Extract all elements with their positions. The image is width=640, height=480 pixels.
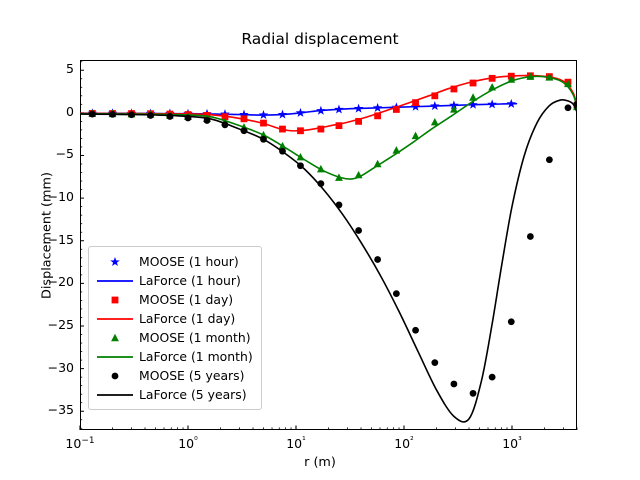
- legend-square-icon: [95, 292, 135, 308]
- legend-line-icon: [95, 311, 135, 327]
- legend-item[interactable]: LaForce (5 years): [95, 385, 253, 404]
- figure: Radial displacement Displacement (mm) r …: [0, 0, 640, 480]
- legend-item-label: MOOSE (1 hour): [135, 254, 239, 269]
- legend-line-icon: [95, 387, 135, 403]
- legend-line-icon: [95, 273, 135, 289]
- legend-item[interactable]: LaForce (1 hour): [95, 271, 253, 290]
- x-tick-label: 10³: [482, 436, 542, 451]
- series-line-laforce-1-month: [80, 76, 577, 179]
- y-tick-label: −25: [28, 317, 74, 332]
- legend-item-label: LaForce (1 hour): [135, 273, 241, 288]
- legend-item-label: MOOSE (5 years): [135, 368, 244, 383]
- legend-item[interactable]: MOOSE (1 month): [95, 328, 253, 347]
- legend-item-label: LaForce (5 years): [135, 387, 247, 402]
- y-tick-label: −35: [28, 402, 74, 417]
- x-axis-label: r (m): [0, 455, 640, 470]
- series-markers-moose-1-month: [88, 72, 580, 180]
- legend-item[interactable]: MOOSE (5 years): [95, 366, 253, 385]
- y-tick-label: −10: [28, 189, 74, 204]
- legend-triangle-icon: [95, 330, 135, 346]
- legend-item[interactable]: MOOSE (1 hour): [95, 252, 253, 271]
- legend-item[interactable]: LaForce (1 day): [95, 309, 253, 328]
- x-tick-label: 10¹: [266, 436, 326, 451]
- legend: MOOSE (1 hour)LaForce (1 hour)MOOSE (1 d…: [88, 246, 262, 410]
- legend-circle-icon: [95, 368, 135, 384]
- legend-item-label: LaForce (1 day): [135, 311, 235, 326]
- y-tick-label: −20: [28, 274, 74, 289]
- legend-item-label: LaForce (1 month): [135, 349, 253, 364]
- legend-star-icon: [95, 254, 135, 270]
- y-tick-label: 0: [28, 104, 74, 119]
- legend-item-label: MOOSE (1 month): [135, 330, 251, 345]
- y-tick-label: −15: [28, 232, 74, 247]
- legend-item[interactable]: MOOSE (1 day): [95, 290, 253, 309]
- legend-item[interactable]: LaForce (1 month): [95, 347, 253, 366]
- y-tick-label: 5: [28, 61, 74, 76]
- legend-item-label: MOOSE (1 day): [135, 292, 233, 307]
- y-tick-label: −5: [28, 146, 74, 161]
- legend-line-icon: [95, 349, 135, 365]
- x-tick-label: 10²: [374, 436, 434, 451]
- y-tick-label: −30: [28, 360, 74, 375]
- x-tick-label: 10−1: [50, 436, 110, 451]
- x-tick-label: 10⁰: [158, 436, 218, 451]
